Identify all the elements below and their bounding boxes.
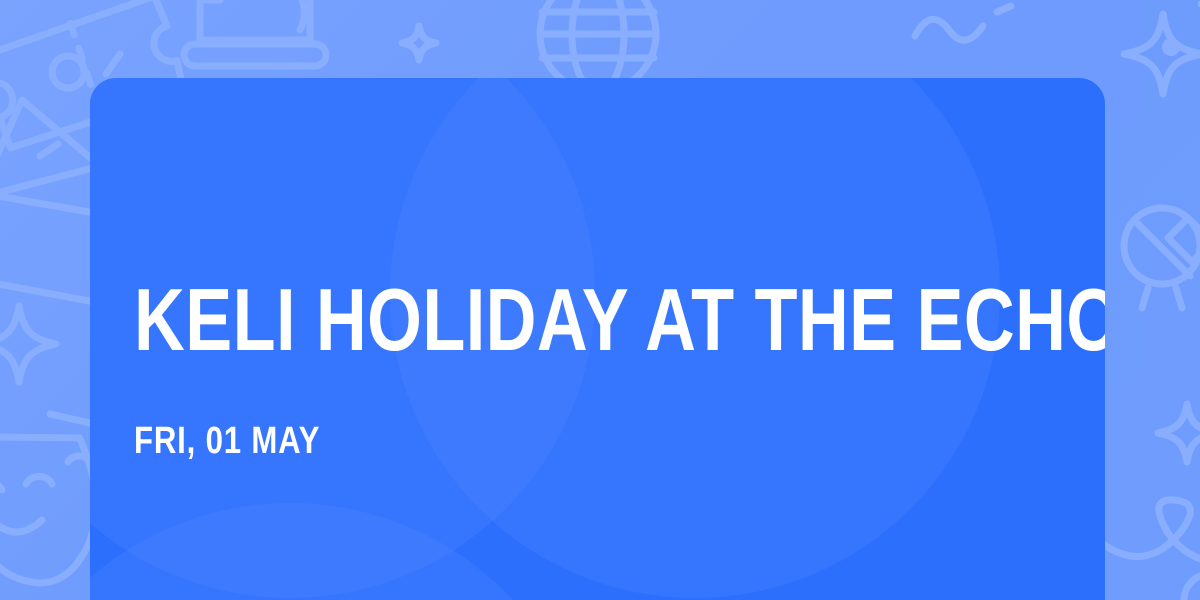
- sparkle-icon: [1118, 8, 1200, 100]
- event-date: FRI, 01 MAY: [134, 420, 320, 462]
- microphone-icon: [1120, 196, 1200, 321]
- sparkle-icon: [398, 22, 440, 64]
- sparkle-icon: [1152, 398, 1200, 470]
- confetti-icon: [905, 0, 1025, 78]
- event-card[interactable]: KELI HOLIDAY AT THE ECHO FRI, 01 MAY: [90, 78, 1105, 600]
- sparkle-icon: [0, 300, 62, 388]
- stage-laptop-icon: [168, 0, 343, 79]
- card-content: KELI HOLIDAY AT THE ECHO FRI, 01 MAY: [134, 78, 1065, 600]
- event-card-canvas: KELI HOLIDAY AT THE ECHO FRI, 01 MAY: [0, 0, 1200, 600]
- event-title: KELI HOLIDAY AT THE ECHO: [134, 274, 1105, 366]
- confetti-icon: [1165, 0, 1200, 66]
